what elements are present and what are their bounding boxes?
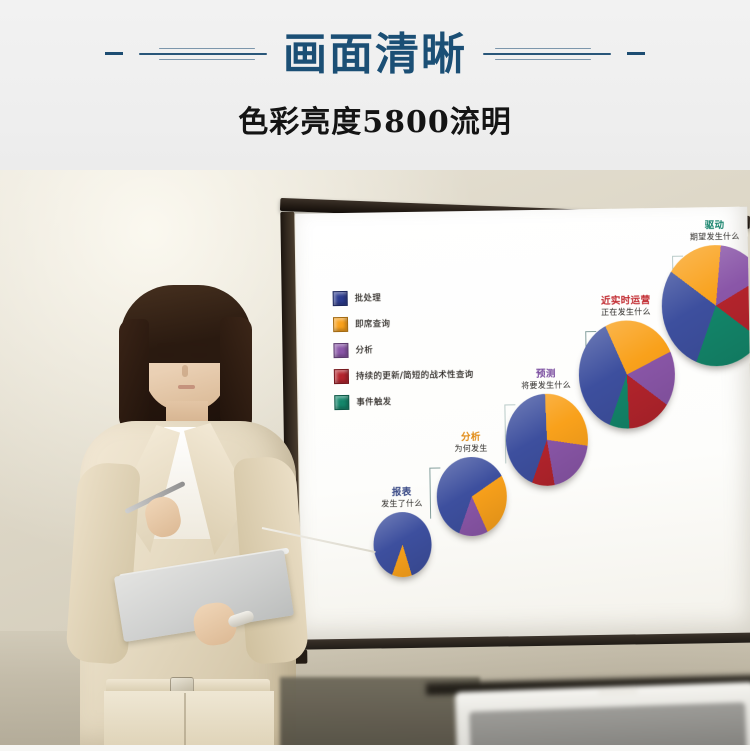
legend-item: 持续的更新/简短的战术性查询 <box>334 367 474 383</box>
mouth <box>178 385 195 389</box>
decor-lines-right <box>481 42 621 68</box>
foreground-laptop <box>456 679 750 751</box>
legend-label: 分析 <box>355 344 373 356</box>
decor-lines-left <box>129 42 269 68</box>
eye-right <box>191 353 207 358</box>
hair-left <box>119 319 149 431</box>
stage-pie-chart <box>661 244 750 367</box>
screen-frame: 批处理即席查询分析持续的更新/简短的战术性查询事件触发 报表发生了什么分析为何发… <box>278 185 750 662</box>
legend-swatch-icon <box>333 290 348 305</box>
page-title: 画面清晰 <box>283 33 467 77</box>
header-banner: 画面清晰 色彩亮度5800流明 <box>0 0 750 170</box>
presenter-person <box>62 281 312 751</box>
legend-swatch-icon <box>333 342 348 357</box>
legend-label: 批处理 <box>355 291 382 303</box>
nose <box>182 365 188 377</box>
legend-item: 事件触发 <box>334 393 474 409</box>
slide-legend: 批处理即席查询分析持续的更新/简短的战术性查询事件触发 <box>333 289 475 421</box>
bottom-edge <box>0 745 750 751</box>
maturity-stage: 驱动期望发生什么 <box>644 220 750 367</box>
legend-item: 分析 <box>333 341 473 357</box>
screen-canvas: 批处理即席查询分析持续的更新/简短的战术性查询事件触发 报表发生了什么分析为何发… <box>295 207 750 642</box>
page-subtitle: 色彩亮度5800流明 <box>0 97 750 141</box>
eye-left <box>158 353 174 358</box>
legend-label: 即席查询 <box>355 317 390 330</box>
laptop-screen <box>469 702 747 751</box>
legend-item: 批处理 <box>333 289 473 305</box>
trouser-seam <box>184 693 186 751</box>
trousers <box>104 691 274 751</box>
legend-label: 持续的更新/简短的战术性查询 <box>356 368 474 382</box>
legend-swatch-icon <box>333 316 348 331</box>
laptop-hinge <box>598 687 638 695</box>
stage-subtitle: 期望发生什么 <box>644 231 750 242</box>
headline-row: 画面清晰 <box>0 24 750 86</box>
promo-page: 画面清晰 色彩亮度5800流明 批处理即席查询分析持续的更新/简短的战 <box>0 0 750 751</box>
legend-swatch-icon <box>334 368 349 383</box>
legend-item: 即席查询 <box>333 315 473 331</box>
legend-swatch-icon <box>334 394 349 409</box>
projected-slide: 批处理即席查询分析持续的更新/简短的战术性查询事件触发 报表发生了什么分析为何发… <box>295 207 750 642</box>
stage-label: 驱动期望发生什么 <box>644 220 750 242</box>
legend-label: 事件触发 <box>356 395 391 408</box>
presentation-photo: 批处理即席查询分析持续的更新/简短的战术性查询事件触发 报表发生了什么分析为何发… <box>0 170 750 751</box>
projection-screen: 批处理即席查询分析持续的更新/简短的战术性查询事件触发 报表发生了什么分析为何发… <box>278 192 750 662</box>
hair-right <box>220 317 252 433</box>
